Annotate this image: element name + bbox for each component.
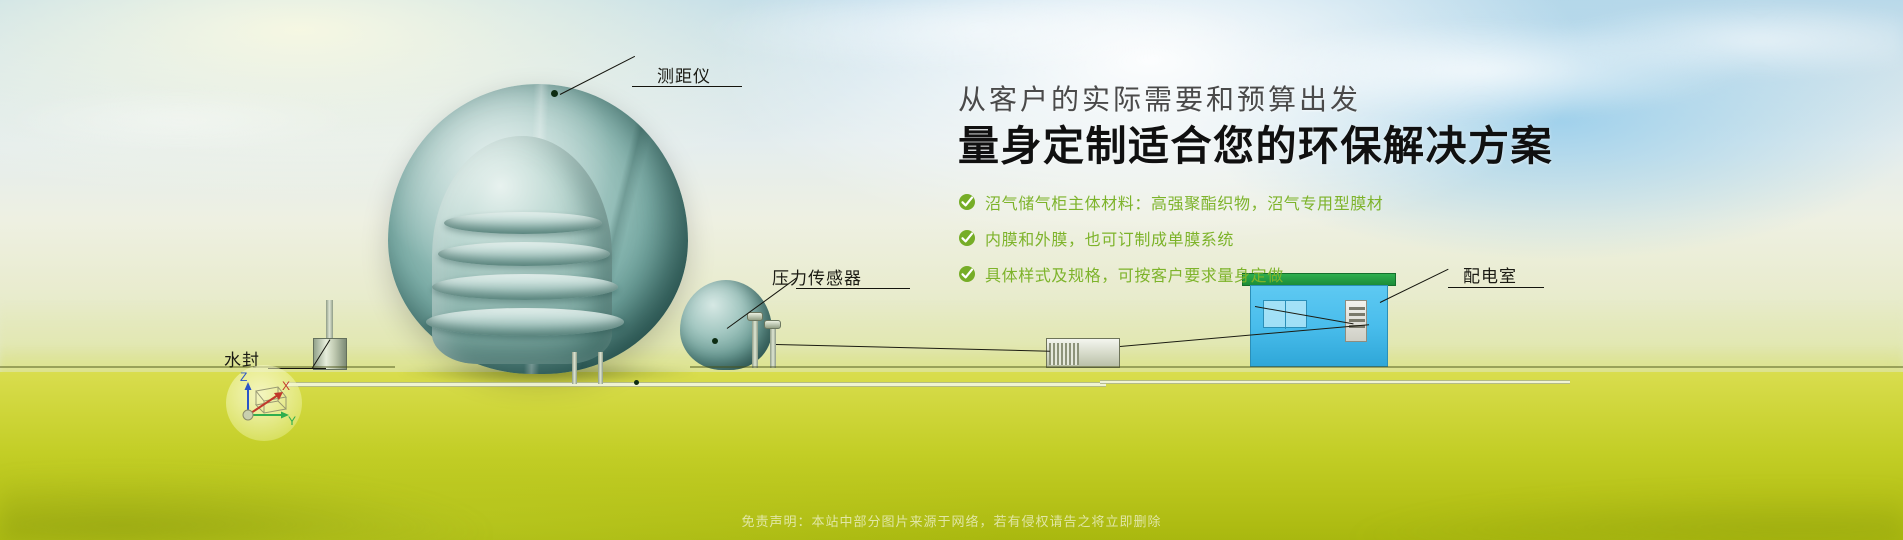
check-circle-icon xyxy=(958,193,976,211)
pressure-sensor-head-1 xyxy=(747,312,763,321)
underground-pipe-main xyxy=(286,382,1106,387)
cloud-layer xyxy=(0,0,1903,300)
axis-label-z: Z xyxy=(240,370,247,384)
check-circle-icon xyxy=(958,265,976,283)
rangefinder-sensor-dot xyxy=(551,90,558,97)
list-item: 沼气储气柜主体材料：高强聚酯织物，沼气专用型膜材 xyxy=(958,190,1578,214)
power-room-control-panel xyxy=(1345,300,1367,342)
list-item: 具体样式及规格，可按客户要求量身定做 xyxy=(958,262,1578,286)
feature-bullet-text: 具体样式及规格，可按客户要求量身定做 xyxy=(985,262,1284,286)
hero-subtitle: 从客户的实际需要和预算出发 xyxy=(958,78,1578,118)
hero-text-block: 从客户的实际需要和预算出发 量身定制适合您的环保解决方案 沼气储气柜主体材料：高… xyxy=(958,78,1578,298)
pipe-junction-dot xyxy=(634,380,639,385)
feature-bullet-list: 沼气储气柜主体材料：高强聚酯织物，沼气专用型膜材 内膜和外膜，也可订制成单膜系统 xyxy=(958,190,1578,286)
water-seal-stack xyxy=(326,300,333,342)
list-item: 内膜和外膜，也可订制成单膜系统 xyxy=(958,226,1578,250)
ground-line-left xyxy=(0,366,395,368)
hero-banner: 测距仪 水封 压力传感器 配电室 xyxy=(0,0,1903,540)
label-pressure-sensor: 压力传感器 xyxy=(772,264,862,289)
pressure-sensor-post-1 xyxy=(752,318,758,368)
disclaimer-text: 免责声明：本站中部分图片来源于网络，若有侵权请告之将立即删除 xyxy=(0,511,1903,530)
blower-unit xyxy=(1046,338,1120,368)
membrane-ring-2 xyxy=(438,242,610,266)
riser-pipe-2 xyxy=(598,352,603,384)
pressure-tap-dot xyxy=(712,338,718,344)
gas-holder-dome xyxy=(388,84,688,374)
feature-bullet-text: 沼气储气柜主体材料：高强聚酯织物，沼气专用型膜材 xyxy=(985,190,1383,214)
blower-grill xyxy=(1049,343,1079,365)
membrane-ring-1 xyxy=(444,212,602,234)
underground-pipe-right xyxy=(1100,380,1570,384)
secondary-dome xyxy=(680,280,772,370)
label-rangefinder: 测距仪 xyxy=(657,62,711,87)
check-circle-icon xyxy=(958,229,976,247)
axis-label-x: X xyxy=(282,379,290,393)
ground-line-right xyxy=(690,366,1903,368)
axis-label-y: Y xyxy=(288,414,296,428)
pressure-sensor-head-2 xyxy=(764,320,781,329)
pressure-sensor-post-2 xyxy=(770,326,776,368)
axis-orientation-gizmo: Z X Y xyxy=(226,365,302,441)
membrane-ring-3 xyxy=(432,274,618,300)
riser-pipe-1 xyxy=(572,352,577,384)
membrane-ring-4 xyxy=(426,308,624,336)
hero-headline: 量身定制适合您的环保解决方案 xyxy=(958,124,1578,170)
axis-gizmo-icon: Z X Y xyxy=(226,365,302,441)
feature-bullet-text: 内膜和外膜，也可订制成单膜系统 xyxy=(985,226,1234,250)
